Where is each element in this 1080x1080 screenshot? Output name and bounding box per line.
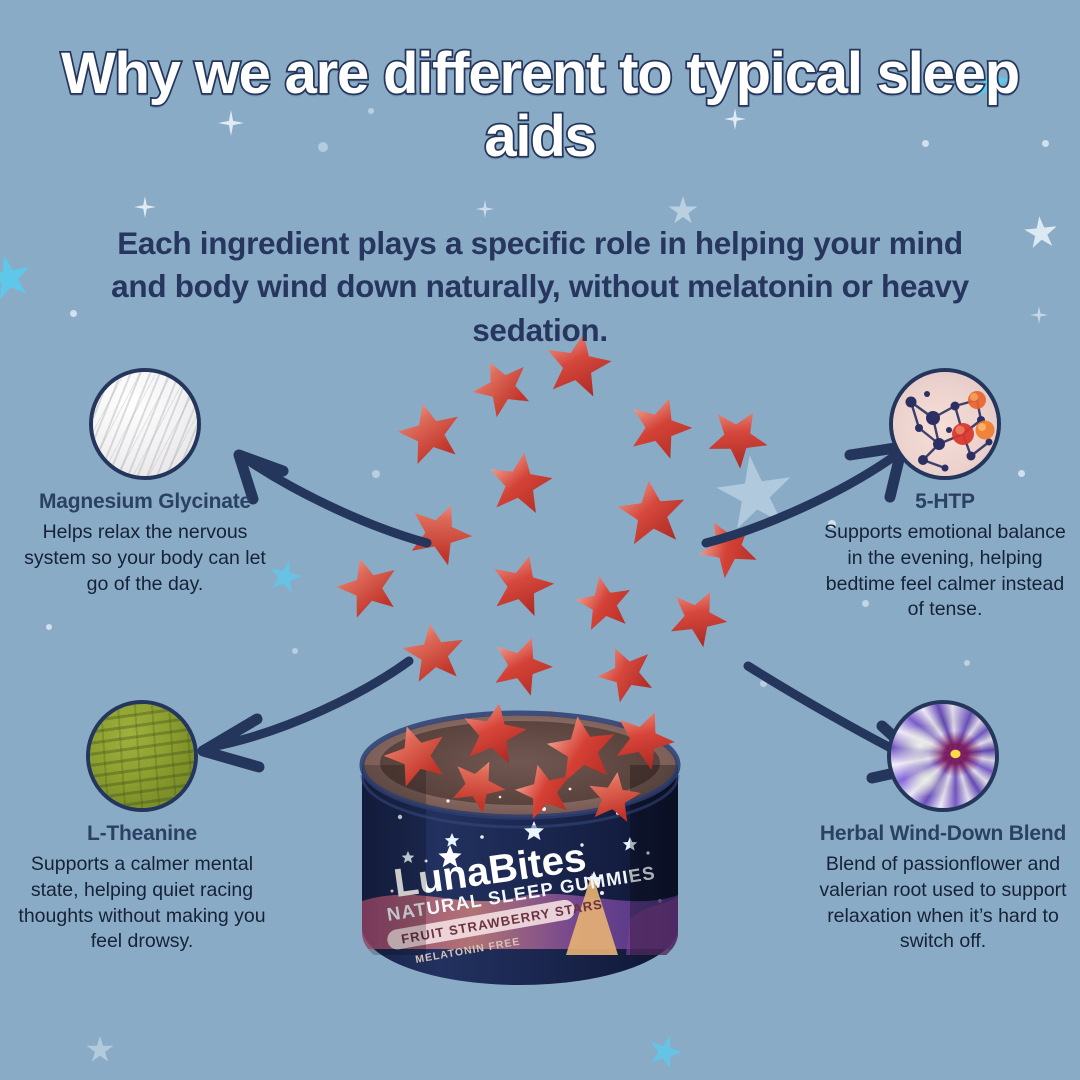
ingredient-description: Supports a calmer mental state, helping …	[8, 852, 276, 955]
green-matcha-powder-icon	[86, 700, 198, 812]
decorative-star-icon	[1022, 214, 1059, 251]
decorative-sparkle-icon	[1030, 306, 1048, 324]
decorative-dot	[292, 648, 298, 654]
page-subtitle: Each ingredient plays a specific role in…	[108, 222, 972, 352]
ingredient-card-magnesium: Magnesium Glycinate Helps relax the nerv…	[14, 368, 276, 597]
ingredient-name: L-Theanine	[8, 821, 276, 846]
passionflower-icon	[887, 700, 999, 812]
white-powder-icon	[89, 368, 201, 480]
decorative-star-icon	[86, 1036, 114, 1064]
ingredient-name: Herbal Wind-Down Blend	[812, 821, 1074, 846]
decorative-sparkle-icon	[476, 200, 494, 218]
ingredient-card-5htp: 5-HTP Supports emotional balance in the …	[820, 368, 1070, 623]
decorative-dot	[964, 660, 970, 666]
page-title: Why we are different to typical sleep ai…	[0, 42, 1080, 168]
ingredient-description: Blend of passionflower and valerian root…	[812, 852, 1074, 955]
infographic-canvas: Why we are different to typical sleep ai…	[0, 0, 1080, 1080]
decorative-star-icon	[644, 1031, 687, 1074]
decorative-sparkle-icon	[134, 196, 156, 218]
ingredient-description: Supports emotional balance in the evenin…	[820, 520, 1070, 623]
product-jar-illustration: LunaBites NATURAL SLEEP GUMMIES FRUIT ST…	[330, 705, 710, 1015]
ingredient-description: Helps relax the nervous system so your b…	[14, 520, 276, 597]
decorative-dot	[70, 310, 77, 317]
ingredient-name: 5-HTP	[820, 489, 1070, 514]
ingredient-name: Magnesium Glycinate	[14, 489, 276, 514]
molecule-network-icon	[889, 368, 1001, 480]
decorative-dot	[46, 624, 52, 630]
ingredient-card-theanine: L-Theanine Supports a calmer mental stat…	[8, 700, 276, 955]
ingredient-card-herbal: Herbal Wind-Down Blend Blend of passionf…	[812, 700, 1074, 955]
decorative-star-icon	[0, 251, 36, 306]
